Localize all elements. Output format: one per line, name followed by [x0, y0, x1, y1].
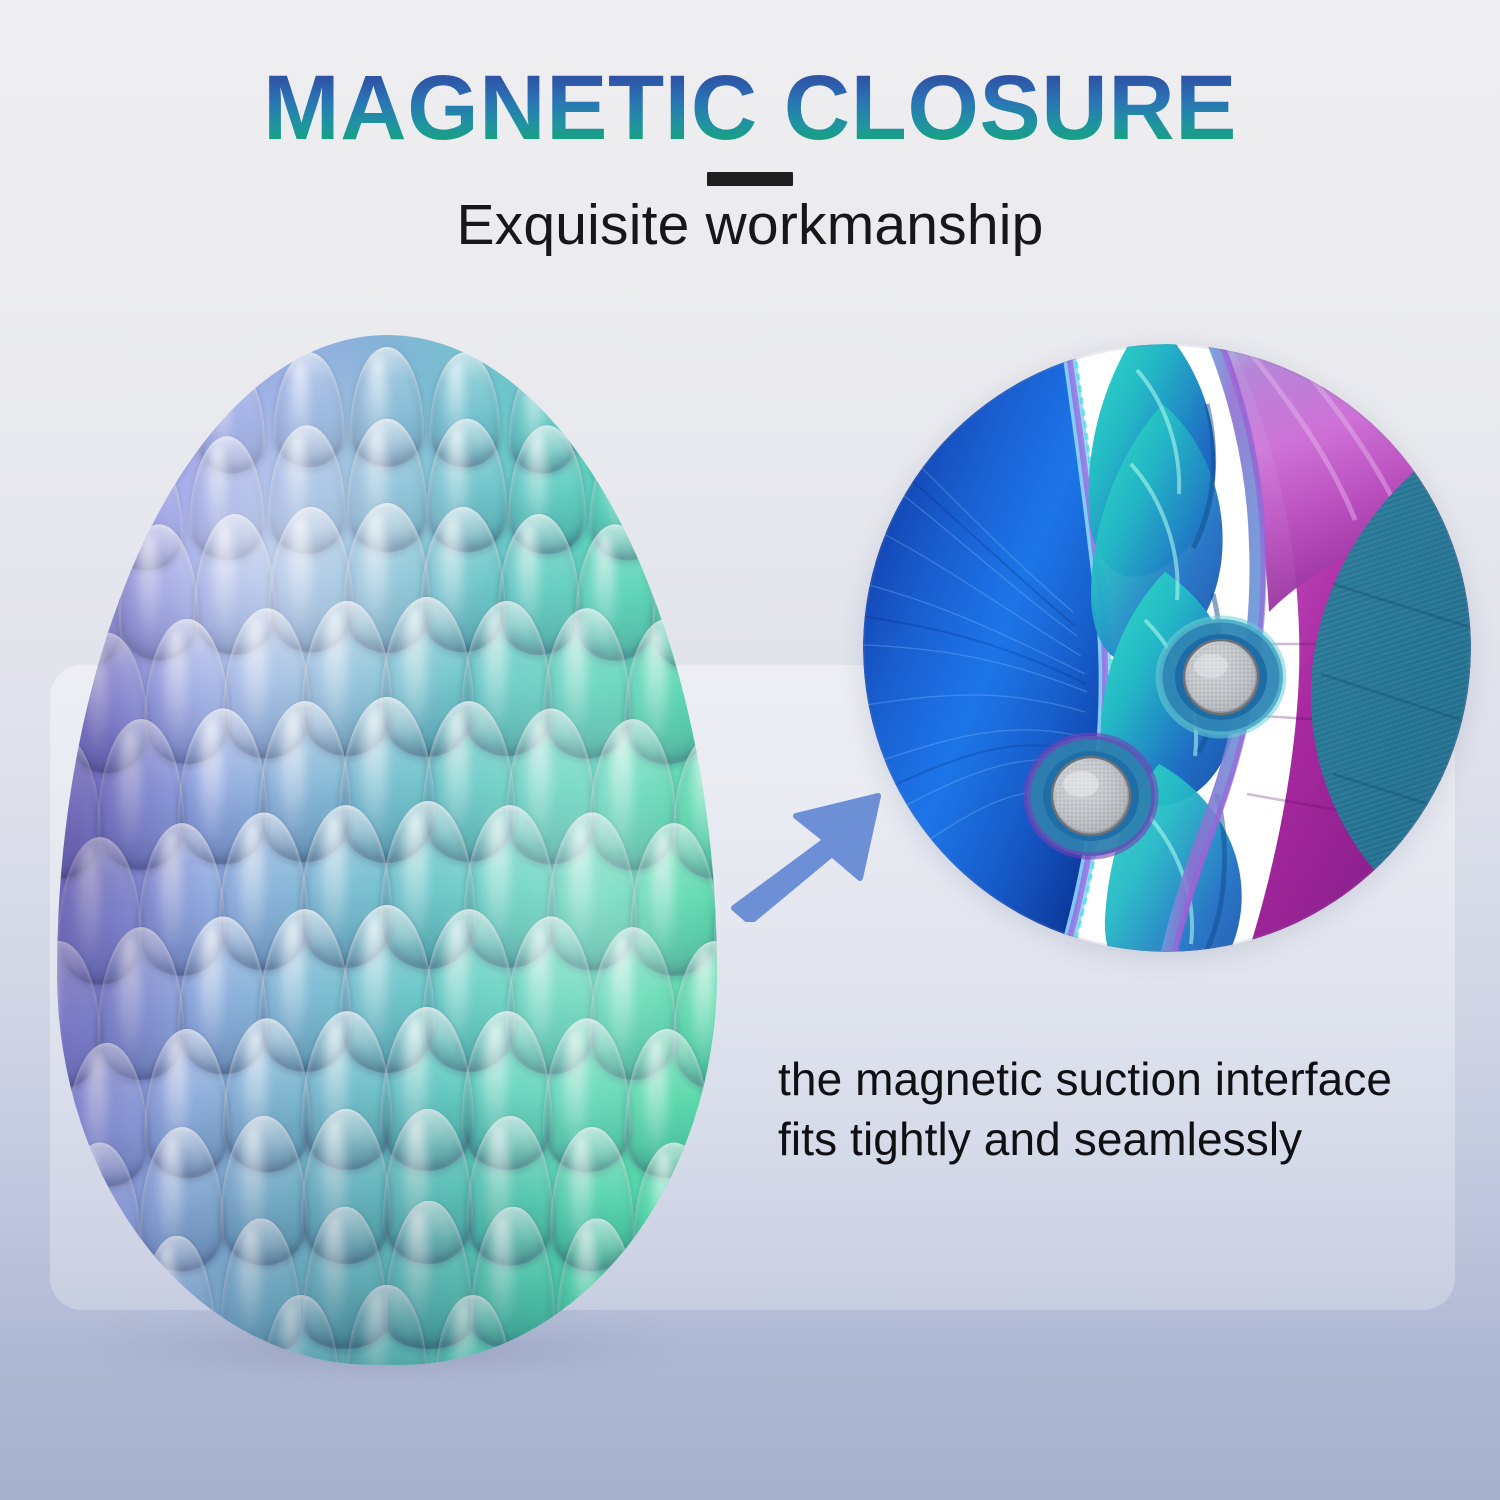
magnet-left	[1027, 736, 1155, 856]
product-image-dragon-egg	[35, 335, 735, 1370]
magnet-detail-illustration	[863, 344, 1471, 952]
page-subtitle: Exquisite workmanship	[0, 192, 1500, 258]
egg-scale	[179, 1318, 251, 1365]
egg-body	[57, 335, 717, 1365]
egg-scale	[434, 1295, 511, 1365]
magnet-detail-circle	[863, 344, 1471, 952]
magnet-right	[1159, 619, 1283, 735]
caption-line-2: fits tightly and seamlessly	[778, 1110, 1478, 1170]
egg-scale	[523, 1318, 595, 1365]
title-divider	[707, 172, 793, 186]
egg-scale	[346, 1285, 428, 1365]
caption-text: the magnetic suction interface fits tigh…	[778, 1050, 1478, 1170]
callout-arrow-icon	[728, 782, 888, 922]
caption-line-1: the magnetic suction interface	[778, 1050, 1478, 1110]
egg-scale-row	[57, 1285, 717, 1365]
product-infographic: MAGNETIC CLOSURE Exquisite workmanship	[0, 0, 1500, 1500]
egg-scale	[262, 1295, 339, 1365]
page-title: MAGNETIC CLOSURE	[0, 62, 1500, 154]
